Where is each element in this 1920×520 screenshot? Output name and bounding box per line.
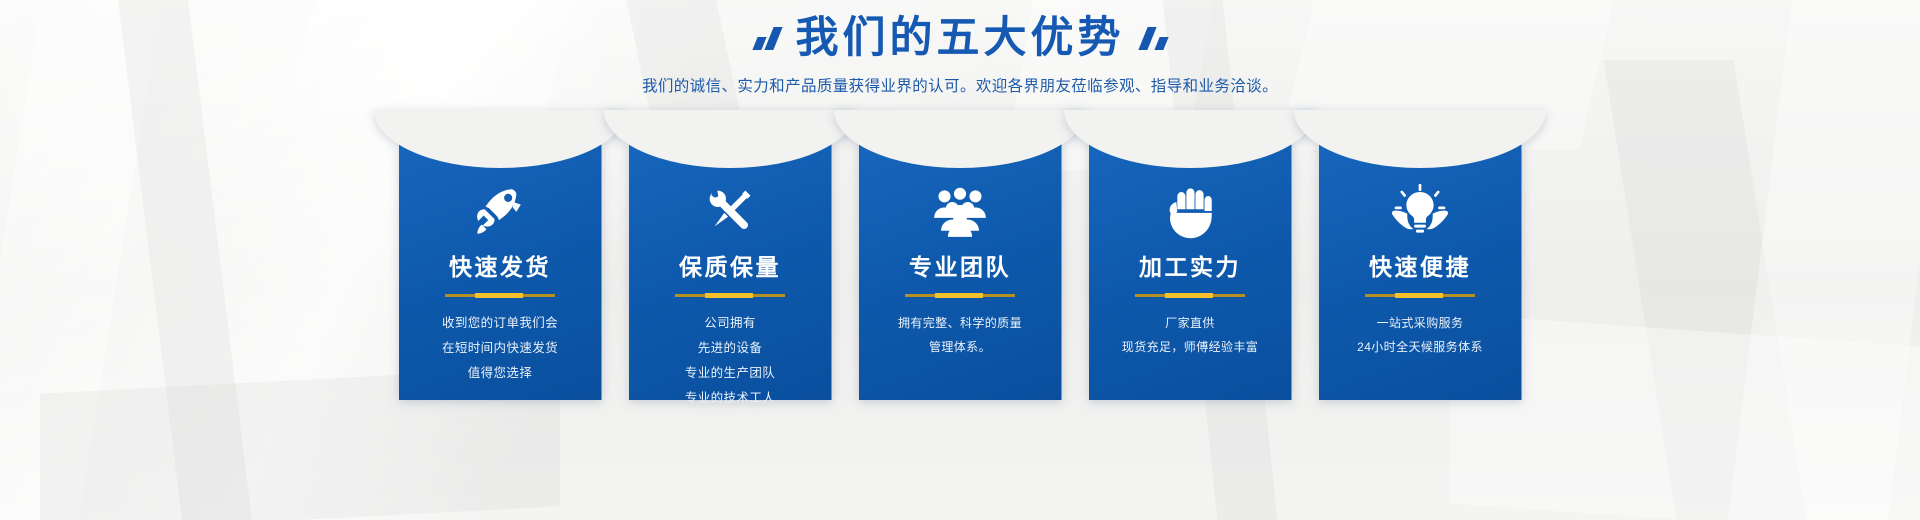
- card-body-line: 一站式采购服务: [1319, 311, 1522, 335]
- card-body-line: 专业的生产团队: [629, 361, 832, 386]
- card-divider: [905, 294, 1015, 297]
- card-title: 专业团队: [859, 256, 1062, 279]
- card-body: 厂家直供 现货充足，师傅经验丰富: [1089, 311, 1292, 359]
- page-subtitle: 我们的诚信、实力和产品质量获得业界的认可。欢迎各界朋友莅临参观、指导和业务洽谈。: [0, 74, 1920, 96]
- card-body-line: 24小时全天候服务体系: [1319, 335, 1522, 359]
- card-body-line: 管理体系。: [859, 335, 1062, 359]
- page-title: 我们的五大优势: [796, 16, 1125, 61]
- card-body-line: 拥有完整、科学的质量: [859, 311, 1062, 335]
- card-divider: [1135, 294, 1245, 297]
- card-body-line: 在短时间内快速发货: [399, 336, 602, 361]
- advantage-card[interactable]: 快速发货 收到您的订单我们会 在短时间内快速发货 值得您选择: [399, 140, 602, 400]
- advantage-card[interactable]: 快速便捷 一站式采购服务 24小时全天候服务体系: [1319, 140, 1522, 400]
- card-body-line: 先进的设备: [629, 336, 832, 361]
- card-divider: [445, 294, 555, 297]
- card-body-line: 现货充足，师傅经验丰富: [1089, 335, 1292, 359]
- title-row: 我们的五大优势: [0, 0, 1920, 61]
- advantage-card[interactable]: 保质保量 公司拥有 先进的设备 专业的生产团队 专业的技术工人: [629, 140, 832, 400]
- card-body: 拥有完整、科学的质量 管理体系。: [859, 311, 1062, 359]
- card-body: 收到您的订单我们会 在短时间内快速发货 值得您选择: [399, 311, 602, 386]
- card-body-line: 公司拥有: [629, 311, 832, 336]
- slash-decoration-left-icon: [755, 27, 778, 50]
- card-divider: [1365, 294, 1475, 297]
- card-title: 快速发货: [399, 256, 602, 279]
- slash-decoration-right-icon: [1143, 27, 1166, 50]
- card-body-line: 值得您选择: [399, 361, 602, 386]
- card-body-line: 厂家直供: [1089, 311, 1292, 335]
- card-title: 保质保量: [629, 256, 832, 279]
- card-title: 加工实力: [1089, 256, 1292, 279]
- rocket-icon: [399, 180, 602, 242]
- card-body: 公司拥有 先进的设备 专业的生产团队 专业的技术工人: [629, 311, 832, 411]
- advantage-card[interactable]: 专业团队 拥有完整、科学的质量 管理体系。: [859, 140, 1062, 400]
- hands-lightbulb-icon: [1319, 180, 1522, 242]
- team-group-icon: [859, 180, 1062, 242]
- card-divider: [675, 294, 785, 297]
- card-body: 一站式采购服务 24小时全天候服务体系: [1319, 311, 1522, 359]
- wrench-screwdriver-icon: [629, 180, 832, 242]
- card-body-line: 专业的技术工人: [629, 386, 832, 411]
- fist-hand-icon: [1089, 180, 1292, 242]
- advantage-card-list: 快速发货 收到您的订单我们会 在短时间内快速发货 值得您选择: [0, 140, 1920, 400]
- card-body-line: 收到您的订单我们会: [399, 311, 602, 336]
- card-title: 快速便捷: [1319, 256, 1522, 279]
- section-header: 我们的五大优势 我们的诚信、实力和产品质量获得业界的认可。欢迎各界朋友莅临参观、…: [0, 0, 1920, 96]
- advantage-card[interactable]: 加工实力 厂家直供 现货充足，师傅经验丰富: [1089, 140, 1292, 400]
